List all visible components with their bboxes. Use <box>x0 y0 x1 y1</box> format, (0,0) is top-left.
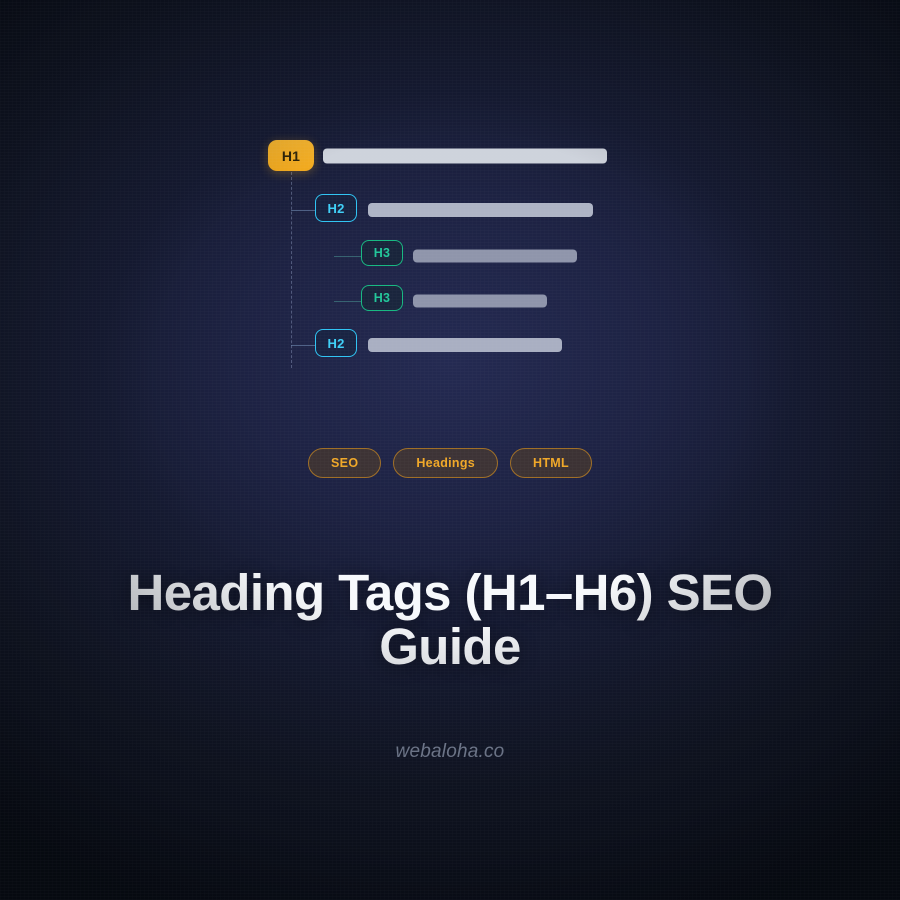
tree-connector-line <box>334 256 361 257</box>
heading-tag-pill-h3-2[interactable]: H3 <box>361 240 403 266</box>
site-watermark: webaloha.co <box>0 741 900 763</box>
outline-row: H2 <box>0 329 900 361</box>
tag-chip-html[interactable]: HTML <box>510 448 592 478</box>
tag-chip-seo[interactable]: SEO <box>308 448 381 478</box>
heading-tag-pill-h1-0[interactable]: H1 <box>268 140 314 171</box>
poster-canvas: H1H2H3H3H2 SEOHeadingsHTML Heading Tags … <box>0 0 900 900</box>
tree-connector-line <box>334 301 361 302</box>
heading-tag-pill-h2-1[interactable]: H2 <box>315 194 357 222</box>
heading-text-placeholder-bar <box>323 149 607 164</box>
outline-row: H1 <box>0 140 900 172</box>
heading-text-placeholder-bar <box>413 295 547 308</box>
tree-connector-line <box>291 210 315 211</box>
outline-row: H2 <box>0 194 900 226</box>
outline-row: H3 <box>0 240 900 272</box>
tag-chip-list: SEOHeadingsHTML <box>0 448 900 478</box>
heading-text-placeholder-bar <box>413 250 577 263</box>
heading-tag-pill-h3-3[interactable]: H3 <box>361 285 403 311</box>
heading-text-placeholder-bar <box>368 203 593 217</box>
tag-chip-headings[interactable]: Headings <box>393 448 498 478</box>
page-title: Heading Tags (H1–H6) SEO Guide <box>90 566 810 674</box>
outline-row: H3 <box>0 285 900 317</box>
heading-text-placeholder-bar <box>368 338 562 352</box>
heading-outline-diagram: H1H2H3H3H2 <box>0 0 900 420</box>
heading-tag-pill-h2-4[interactable]: H2 <box>315 329 357 357</box>
tree-connector-line <box>291 345 315 346</box>
